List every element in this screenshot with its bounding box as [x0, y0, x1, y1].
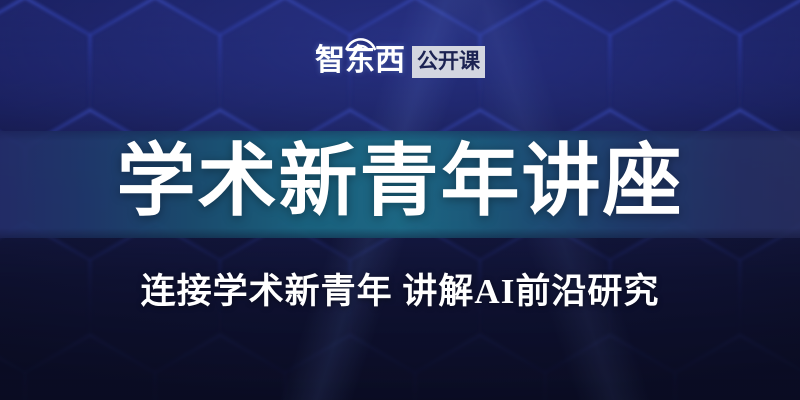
band-bottom-fade — [0, 228, 800, 238]
logo-badge: 公开课 — [412, 46, 485, 78]
poster-title: 学术新青年讲座 — [0, 137, 800, 229]
logo-mark: 智东西 — [315, 37, 405, 77]
poster-subtitle: 连接学术新青年 讲解AI前沿研究 — [0, 271, 800, 313]
brand-logo[interactable]: 智东西 公开课 — [0, 36, 800, 78]
wifi-arc-icon — [344, 36, 378, 51]
poster-banner: 智东西 公开课 学术新青年讲座 连接学术新青年 讲解AI前沿研究 — [0, 0, 800, 400]
